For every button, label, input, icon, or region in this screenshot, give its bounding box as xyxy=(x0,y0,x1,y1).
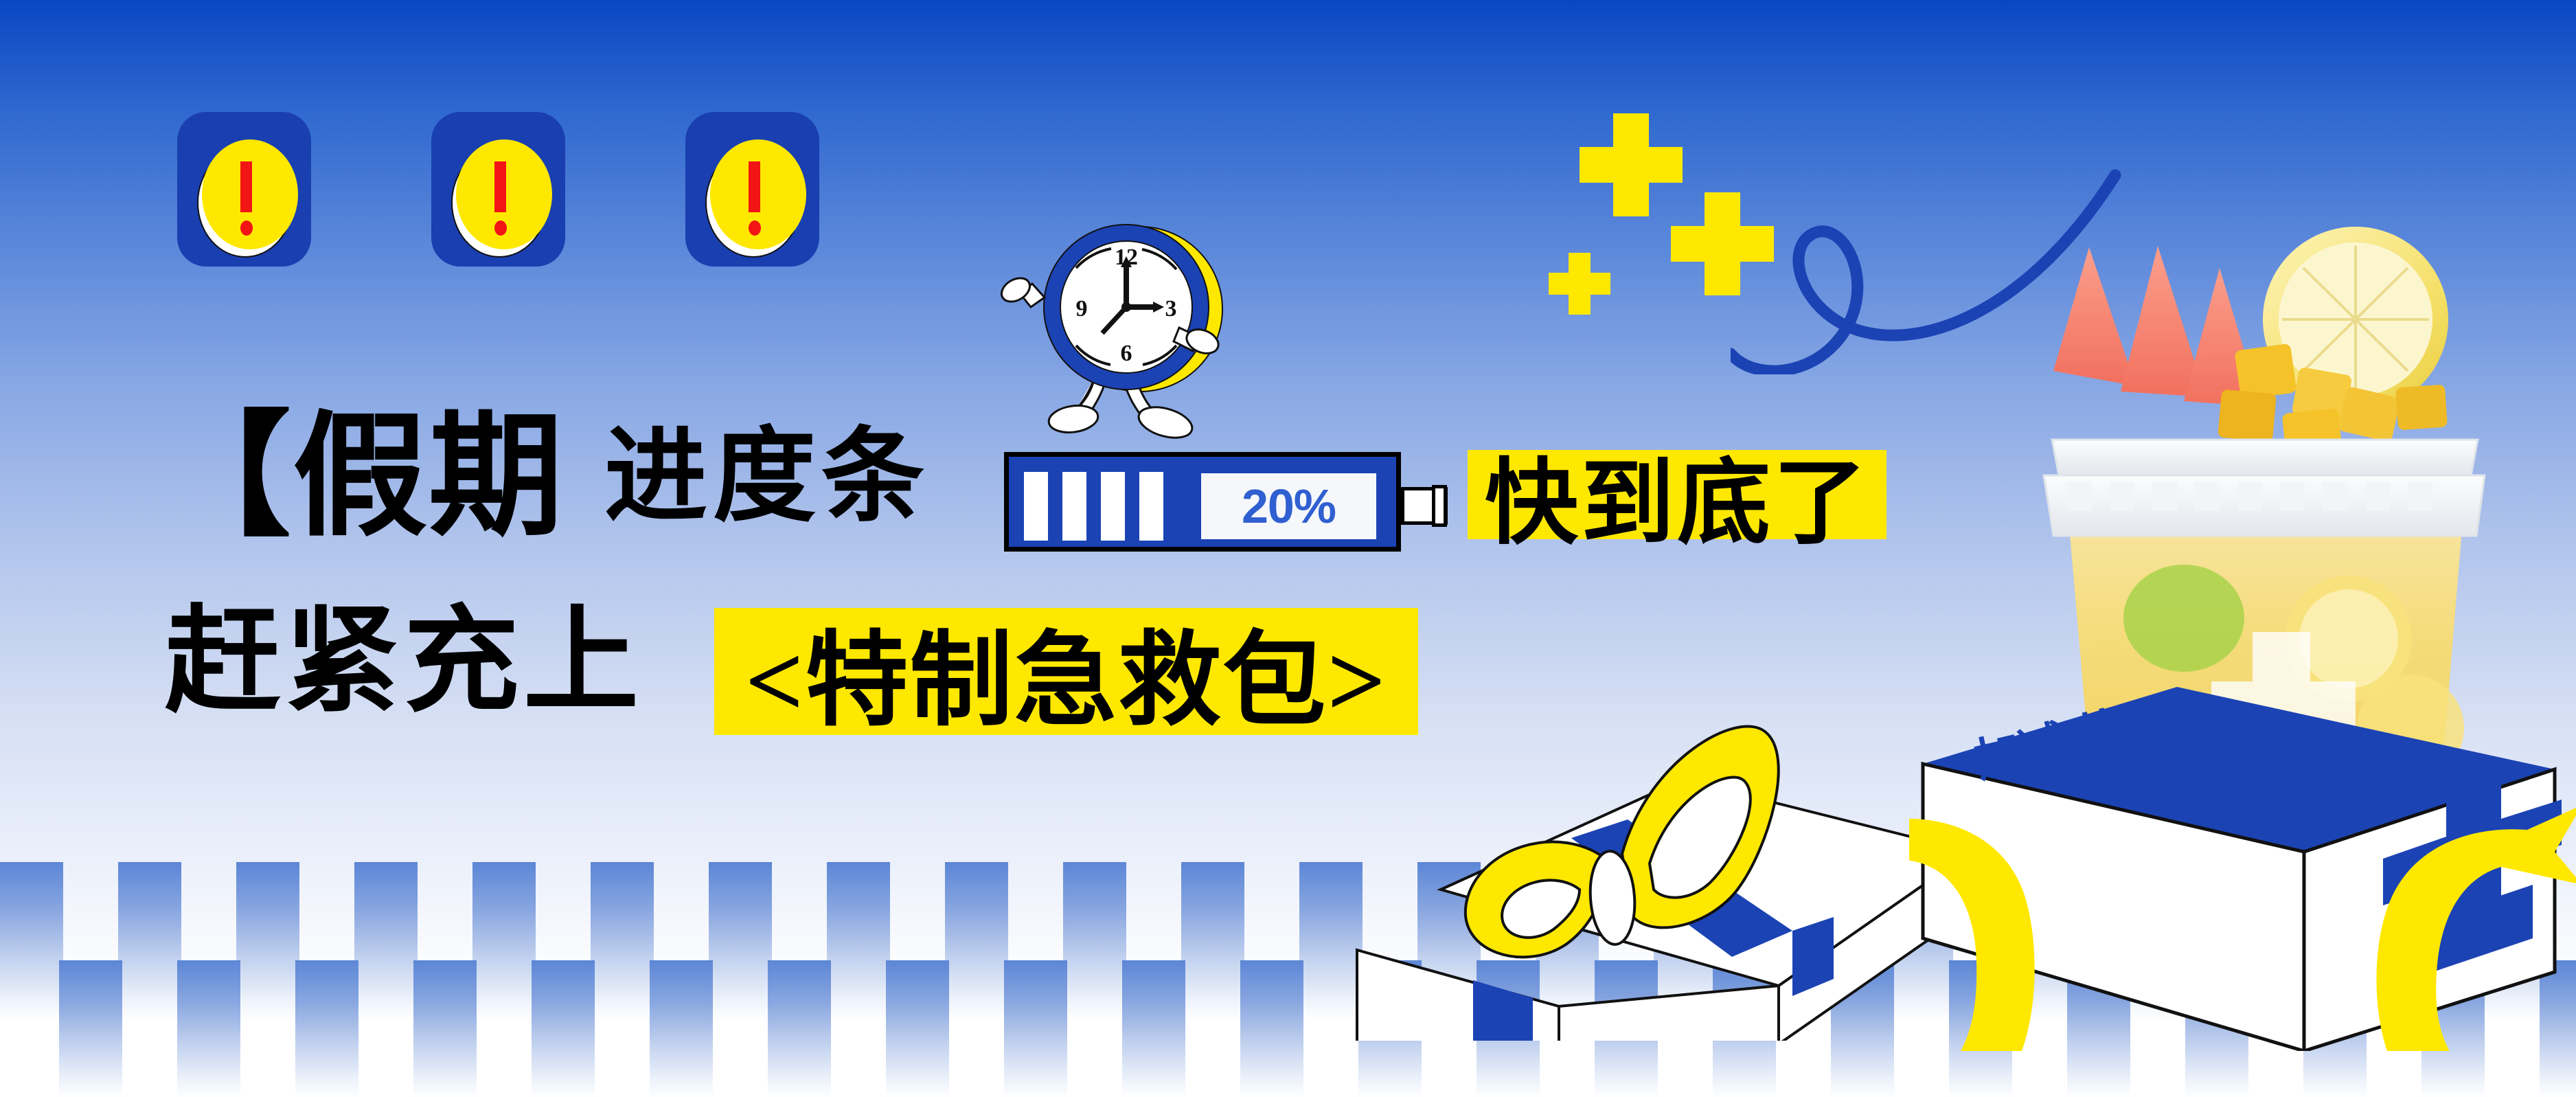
alert-badge-1 xyxy=(177,112,311,267)
tooth xyxy=(1240,960,1303,1097)
clock-numeral-9: 9 xyxy=(1076,296,1088,321)
gift-box-illustration xyxy=(1353,683,1998,1041)
plus-sparkle-icon-1 xyxy=(1580,113,1683,216)
clock-numeral-3: 3 xyxy=(1165,296,1177,321)
tooth xyxy=(1122,960,1185,1097)
tooth xyxy=(177,960,240,1097)
tooth xyxy=(650,960,713,1097)
cup-lid-rim-upper xyxy=(2052,440,2478,475)
alert-badge-3 xyxy=(685,112,819,267)
first-aid-box-with-fruit-cup xyxy=(1909,165,2576,1051)
headline-line1-subtitle: 进度条 xyxy=(604,426,930,529)
clock-mascot: 12 3 6 9 xyxy=(999,196,1260,450)
battery-percent-label: 20% xyxy=(1201,473,1376,539)
tooth xyxy=(1004,960,1067,1097)
exclamation-dot-icon xyxy=(240,220,253,236)
tooth xyxy=(295,960,358,1097)
promo-banner: 12 3 6 9 【假期 进度条 20% 快到底了 赶紧充上 <特制急救包> xyxy=(0,0,2576,1097)
exclamation-icon xyxy=(494,161,506,212)
clock-numeral-6: 6 xyxy=(1121,341,1132,366)
battery-segment-2 xyxy=(1062,472,1086,541)
exclamation-icon xyxy=(240,161,252,212)
exclamation-dot-icon xyxy=(494,220,507,236)
alert-badge-2 xyxy=(431,112,565,267)
tooth xyxy=(413,960,477,1097)
tooth xyxy=(532,960,595,1097)
headline-line2-lead: 赶紧充上 xyxy=(165,604,643,720)
plus-sparkle-icon-3 xyxy=(1549,253,1610,315)
headline-highlight-pack: <特制急救包> xyxy=(714,608,1418,735)
headline-line1-bracket: 【假期 xyxy=(157,411,565,545)
battery-segment-1 xyxy=(1024,472,1048,541)
watermelon-wedge-1 xyxy=(2053,247,2136,386)
headline-highlight-right: 快到底了 xyxy=(1468,450,1887,539)
battery-segment-3 xyxy=(1101,472,1125,541)
lime-piece xyxy=(2123,565,2244,672)
battery-terminal-cap-icon xyxy=(1432,485,1447,527)
tooth xyxy=(886,960,949,1097)
battery-segment-4 xyxy=(1139,472,1163,541)
tooth xyxy=(768,960,831,1097)
battery-progress-bar: 20% xyxy=(1004,452,1401,552)
exclamation-dot-icon xyxy=(749,220,761,236)
tooth xyxy=(59,960,122,1097)
exclamation-icon xyxy=(749,161,760,212)
